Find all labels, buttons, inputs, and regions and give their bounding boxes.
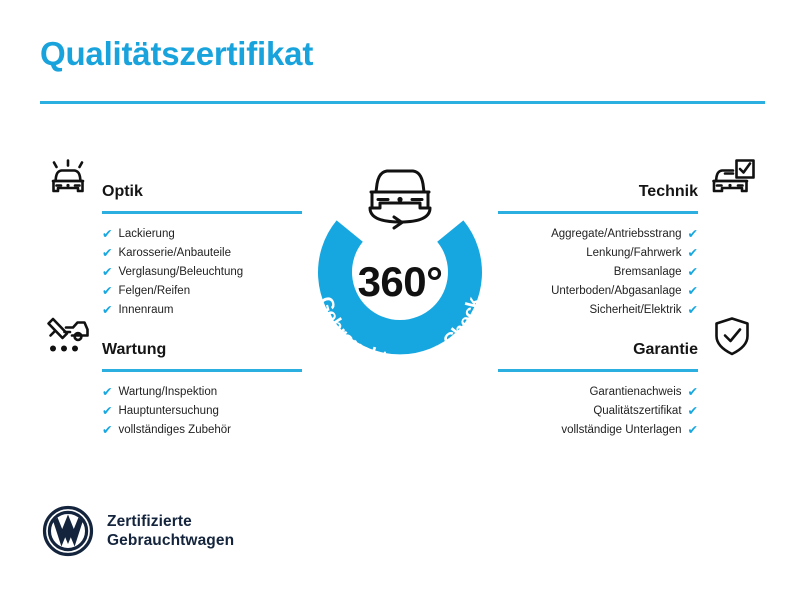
check-icon: ✔: [102, 228, 112, 241]
section-title-technik: Technik: [639, 183, 698, 201]
check-icon: ✔: [688, 247, 698, 260]
list-item-label: Unterboden/Abgasanlage: [551, 282, 681, 301]
vw-wordmark: ZertifizierteGebrauchtwagen: [107, 512, 234, 550]
check-icon: ✔: [102, 386, 112, 399]
section-divider-optik: [102, 211, 302, 214]
list-item-label: Lackierung: [118, 225, 174, 244]
list-item-label: vollständiges Zubehör: [118, 421, 231, 440]
360-check-badge: Gebrauchtwagen-Check 360°: [292, 152, 508, 378]
list-item: ✔Wartung/Inspektion: [40, 383, 340, 402]
check-icon: ✔: [102, 285, 112, 298]
list-item: ✔Garantienachweis: [460, 383, 760, 402]
section-title-wartung: Wartung: [102, 341, 166, 359]
header-divider: [40, 101, 765, 104]
volkswagen-logo-icon: [42, 505, 94, 557]
car-shine-icon: [40, 155, 96, 209]
list-item-label: Hauptuntersuchung: [118, 402, 218, 421]
check-icon: ✔: [688, 424, 698, 437]
list-item: ✔Hauptuntersuchung: [40, 402, 340, 421]
car-checkbox-icon: [704, 155, 760, 209]
list-item-label: Bremsanlage: [614, 263, 682, 282]
check-icon: ✔: [102, 405, 112, 418]
vw-wordmark-line-1: Zertifizierte: [107, 513, 192, 530]
shield-check-icon: [704, 313, 760, 367]
list-item-label: Karosserie/Anbauteile: [118, 244, 231, 263]
check-icon: ✔: [688, 285, 698, 298]
list-item-label: vollständige Unterlagen: [561, 421, 681, 440]
check-icon: ✔: [102, 247, 112, 260]
list-item-label: Verglasung/Beleuchtung: [118, 263, 243, 282]
list-item-label: Felgen/Reifen: [118, 282, 190, 301]
list-item: ✔vollständiges Zubehör: [40, 421, 340, 440]
check-icon: ✔: [688, 266, 698, 279]
vw-wordmark-line-2: Gebrauchtwagen: [107, 532, 234, 549]
list-item-label: Lenkung/Fahrwerk: [586, 244, 681, 263]
section-title-optik: Optik: [102, 183, 143, 201]
list-item-label: Wartung/Inspektion: [118, 383, 217, 402]
list-item-label: Aggregate/Antriebsstrang: [551, 225, 681, 244]
checklist-wartung: ✔Wartung/Inspektion ✔Hauptuntersuchung ✔…: [40, 383, 340, 440]
section-divider-wartung: [102, 369, 302, 372]
section-divider-garantie: [498, 369, 698, 372]
list-item: ✔Qualitätszertifikat: [460, 402, 760, 421]
check-icon: ✔: [102, 266, 112, 279]
badge-center-label: 360°: [358, 258, 443, 305]
checklist-garantie: ✔Garantienachweis ✔Qualitätszertifikat ✔…: [460, 383, 760, 440]
page-title: Qualitätszertifikat: [40, 36, 313, 72]
check-icon: ✔: [102, 424, 112, 437]
list-item-label: Garantienachweis: [589, 383, 681, 402]
wrench-car-service-icon: [40, 313, 96, 367]
section-divider-technik: [498, 211, 698, 214]
vw-certified-lockup: ZertifizierteGebrauchtwagen: [42, 505, 234, 557]
list-item-label: Qualitätszertifikat: [593, 402, 681, 421]
check-icon: ✔: [688, 228, 698, 241]
certificate-page: Qualitätszertifikat Optik: [0, 0, 800, 600]
check-icon: ✔: [688, 405, 698, 418]
car-rotate-360-icon: [370, 171, 430, 228]
list-item: ✔vollständige Unterlagen: [460, 421, 760, 440]
section-title-garantie: Garantie: [633, 341, 698, 359]
check-icon: ✔: [688, 386, 698, 399]
